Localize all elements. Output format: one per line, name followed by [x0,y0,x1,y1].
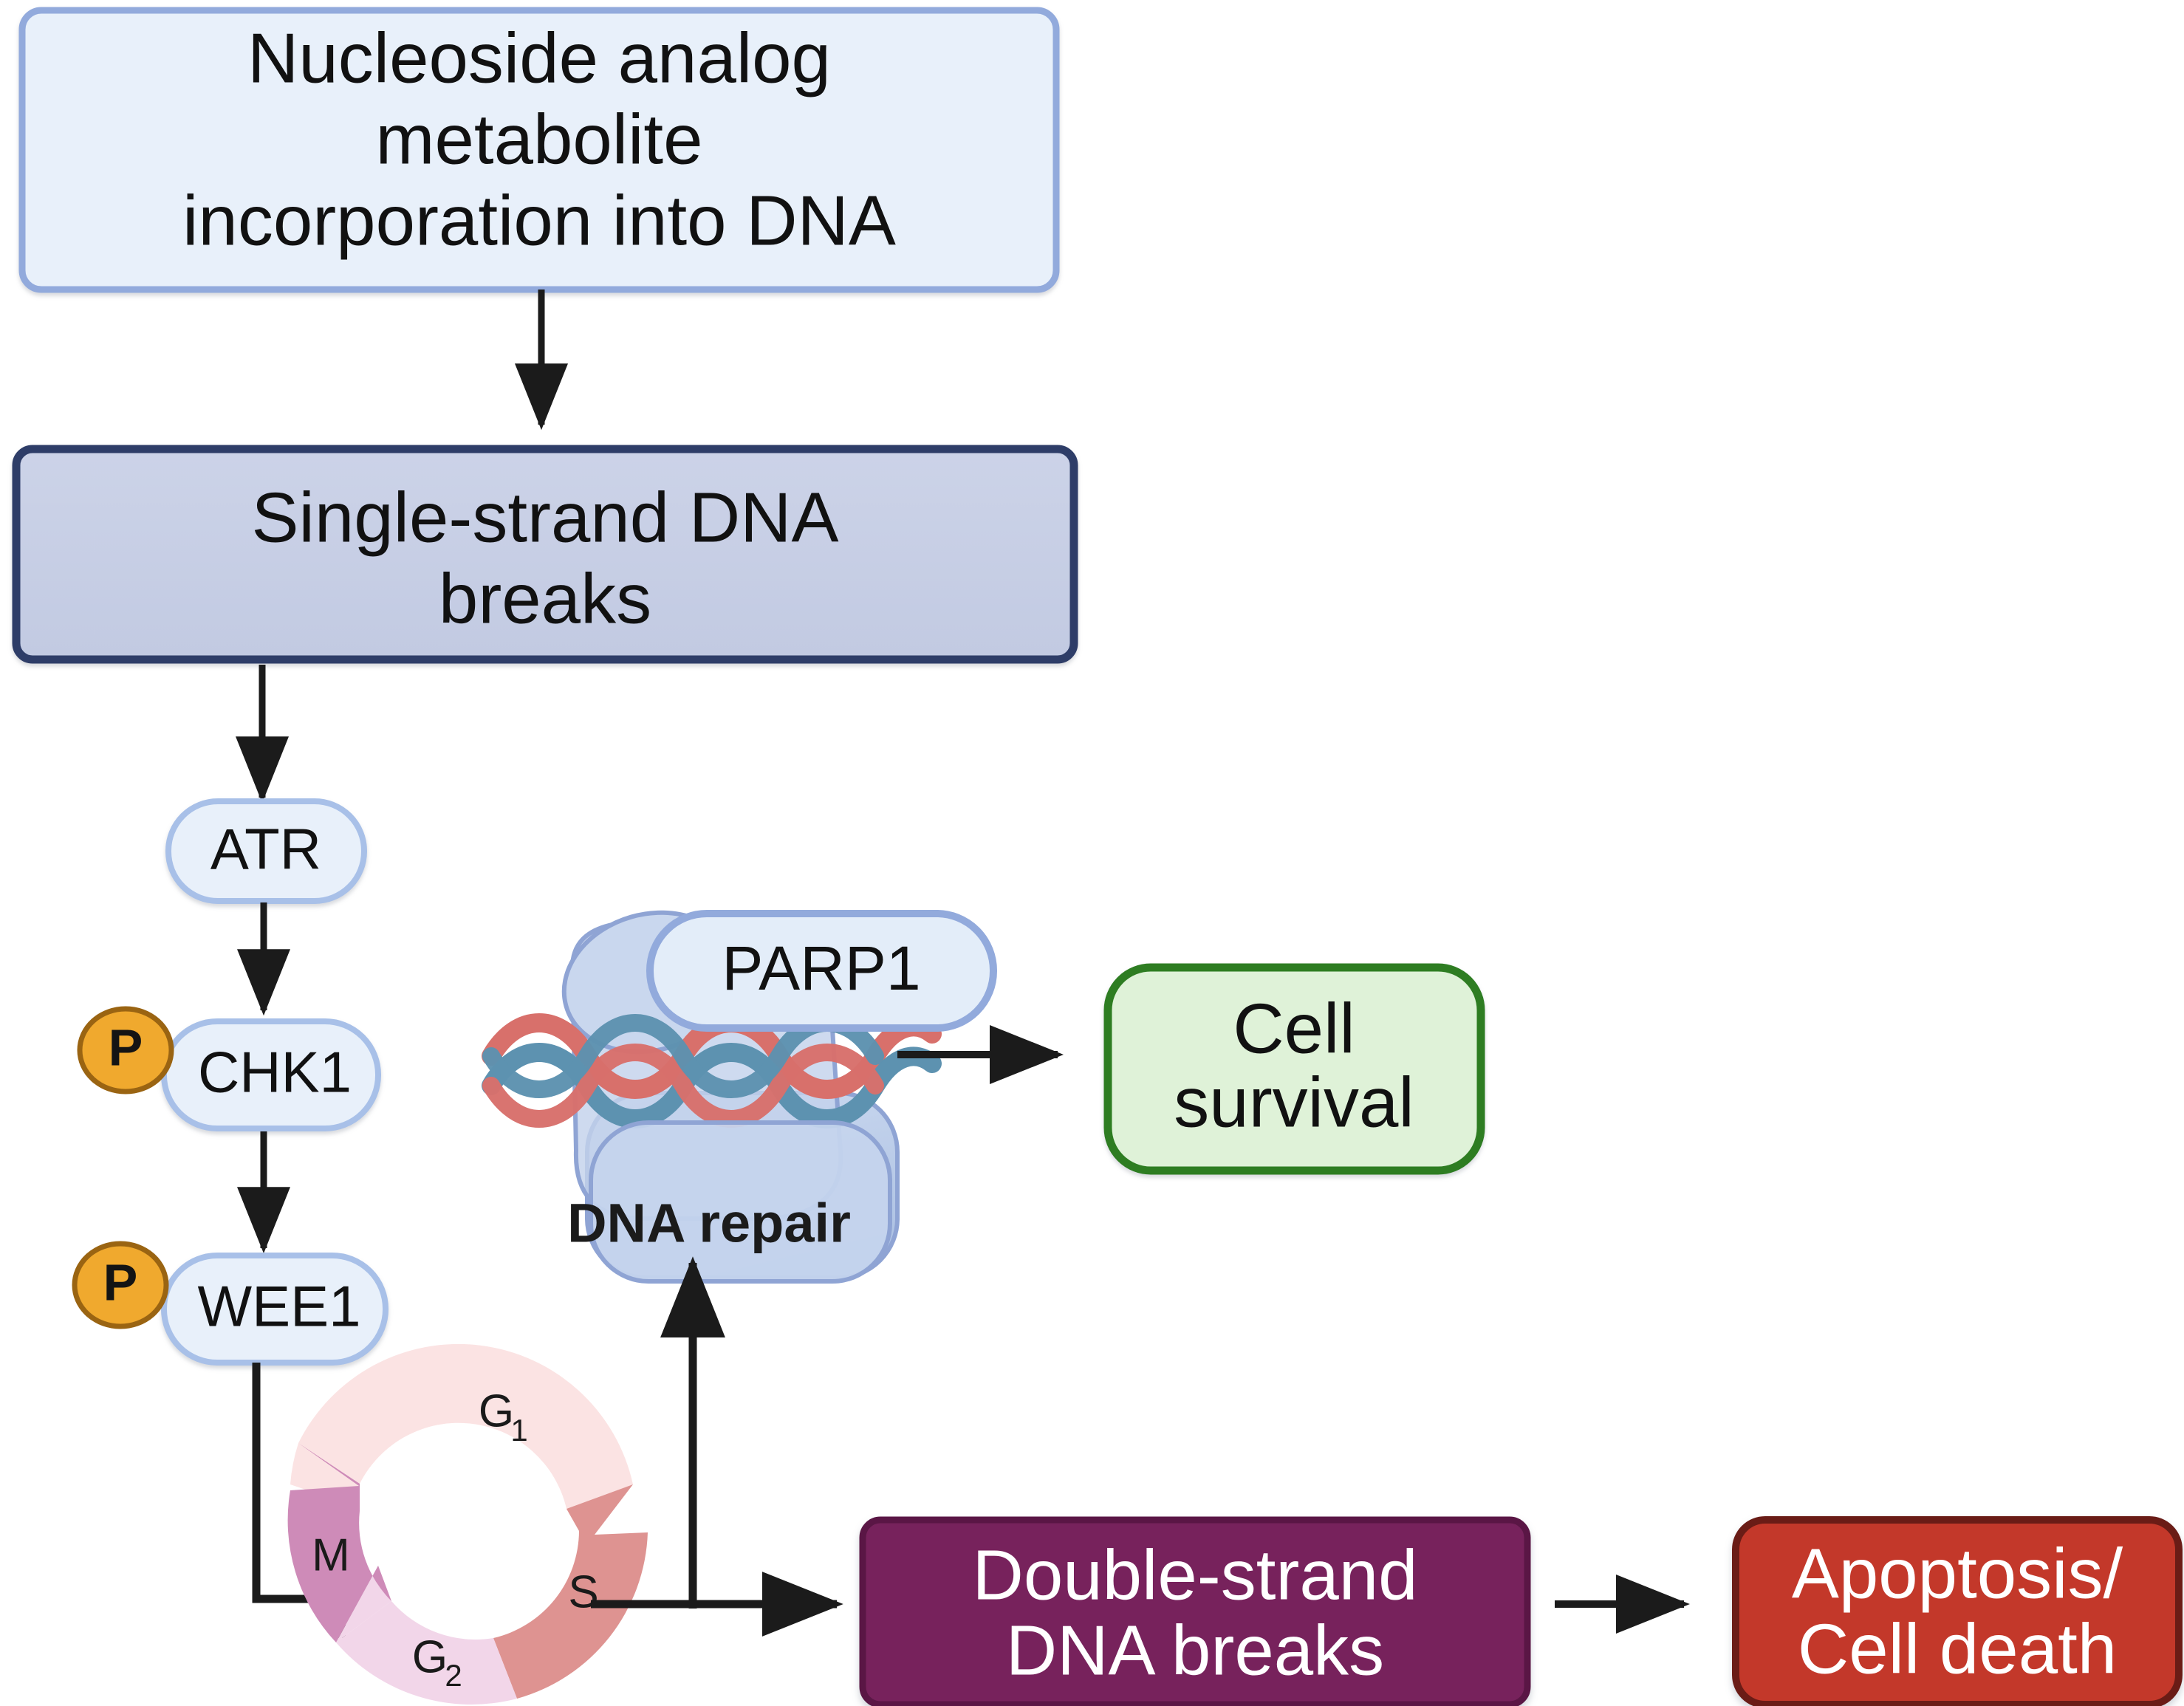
cellcycle-label-s: S [568,1566,598,1617]
phospho-badge-chk1[interactable]: P [80,1009,171,1092]
phospho-badge-wee1[interactable]: P [75,1244,166,1326]
pathway-diagram: Nucleoside analog metabolite incorporati… [0,0,2184,1706]
diagram-canvas: Nucleoside analog metabolite incorporati… [0,0,2184,1706]
dna-repair-caption: DNA repair [567,1193,851,1254]
incorporation-label-line3: incorporation into DNA [182,181,896,260]
phospho-chk1-label: P [109,1018,143,1076]
dsb-label-line1: Double-strand [973,1535,1418,1614]
cell-cycle-ring[interactable]: G 1 S G 2 M [288,1344,648,1705]
cellcycle-label-m: M [312,1529,350,1580]
wee1-label: WEE1 [197,1274,360,1339]
svg-text:2: 2 [445,1658,462,1693]
node-double-strand-dna-breaks[interactable]: Double-strand DNA breaks [863,1520,1527,1705]
svg-text:G: G [412,1631,448,1682]
apoptosis-label-line1: Apoptosis/ [1792,1534,2123,1613]
svg-text:G: G [479,1385,514,1436]
node-wee1[interactable]: WEE1 [164,1255,386,1363]
node-chk1[interactable]: CHK1 [164,1021,378,1128]
chk1-label: CHK1 [198,1040,352,1105]
svg-text:M: M [312,1529,350,1580]
cell-survival-label-line1: Cell [1233,989,1355,1068]
svg-text:1: 1 [510,1413,527,1448]
node-single-strand-dna-breaks[interactable]: Single-strand DNA breaks [16,449,1074,660]
apoptosis-label-line2: Cell death [1798,1609,2117,1688]
node-parp1[interactable]: PARP1 [650,914,993,1028]
ssb-label-line1: Single-strand DNA [252,478,839,557]
node-nucleoside-incorporation[interactable]: Nucleoside analog metabolite incorporati… [22,10,1056,290]
node-apoptosis-cell-death[interactable]: Apoptosis/ Cell death [1736,1520,2179,1705]
cell-survival-label-line2: survival [1174,1063,1414,1142]
dsb-label-line2: DNA breaks [1006,1611,1384,1690]
svg-text:S: S [568,1566,598,1617]
parp1-label: PARP1 [722,933,920,1003]
dna-repair-complex[interactable]: PARP1 DNA repair [491,893,993,1281]
node-cell-survival[interactable]: Cell survival [1108,967,1481,1171]
atr-label: ATR [210,817,321,882]
incorporation-label-line2: metabolite [376,100,703,179]
node-atr[interactable]: ATR [168,801,364,901]
ssb-label-line2: breaks [439,559,651,638]
incorporation-label-line1: Nucleoside analog [247,18,831,97]
phospho-wee1-label: P [103,1253,138,1311]
